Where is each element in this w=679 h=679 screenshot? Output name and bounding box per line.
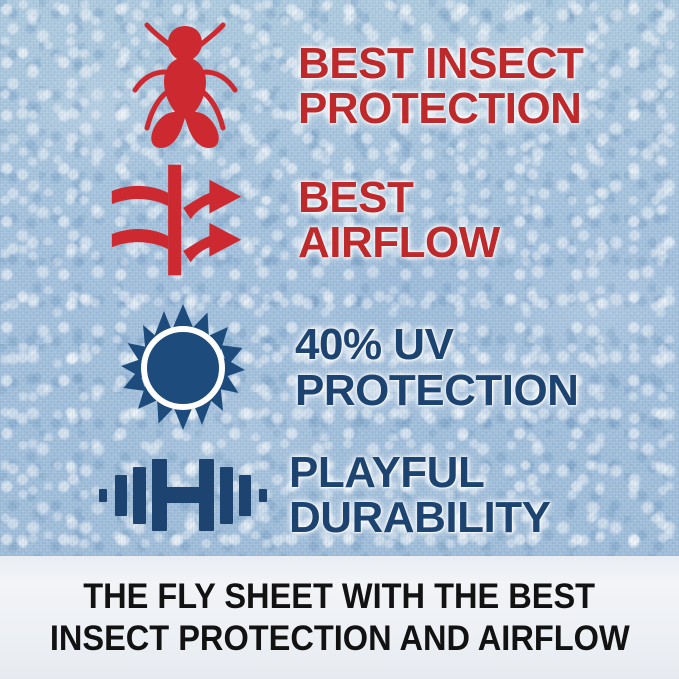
sun-uv-icon-cell: [100, 304, 265, 432]
dumbbell-icon: [97, 453, 269, 537]
product-feature-poster: BEST INSECT PROTECTION BEST AIRFLOW: [0, 0, 679, 679]
airflow-line-1: BEST: [298, 175, 500, 220]
airflow-line-2: AIRFLOW: [298, 220, 500, 265]
airflow-icon: [110, 161, 260, 279]
insect-protection-line-2: PROTECTION: [298, 86, 583, 131]
feature-row-uv-protection: 40% UV PROTECTION: [100, 300, 670, 435]
insect-protection-text: BEST INSECT PROTECTION: [298, 41, 583, 132]
uv-protection-line-2: PROTECTION: [295, 368, 578, 413]
tagline-line-1: THE FLY SHEET WITH THE BEST: [84, 576, 596, 618]
uv-protection-line-1: 40% UV: [295, 322, 578, 367]
fly-icon-cell: [110, 20, 260, 152]
uv-protection-text: 40% UV PROTECTION: [295, 322, 578, 413]
insect-protection-line-1: BEST INSECT: [298, 41, 583, 86]
feature-row-airflow: BEST AIRFLOW: [110, 160, 670, 280]
durability-line-2: DURABILITY: [289, 495, 550, 540]
airflow-icon-cell: [110, 161, 260, 279]
durability-text: PLAYFUL DURABILITY: [289, 450, 550, 541]
fly-icon: [125, 20, 245, 152]
feature-row-insect-protection: BEST INSECT PROTECTION: [110, 16, 670, 156]
tagline-line-2: INSECT PROTECTION AND AIRFLOW: [50, 618, 630, 660]
dumbbell-icon-cell: [90, 453, 275, 537]
durability-line-1: PLAYFUL: [289, 450, 550, 495]
airflow-text: BEST AIRFLOW: [298, 175, 500, 266]
sun-uv-icon: [119, 304, 247, 432]
feature-row-durability: PLAYFUL DURABILITY: [90, 440, 670, 550]
bottom-tagline-banner: THE FLY SHEET WITH THE BEST INSECT PROTE…: [0, 556, 679, 679]
